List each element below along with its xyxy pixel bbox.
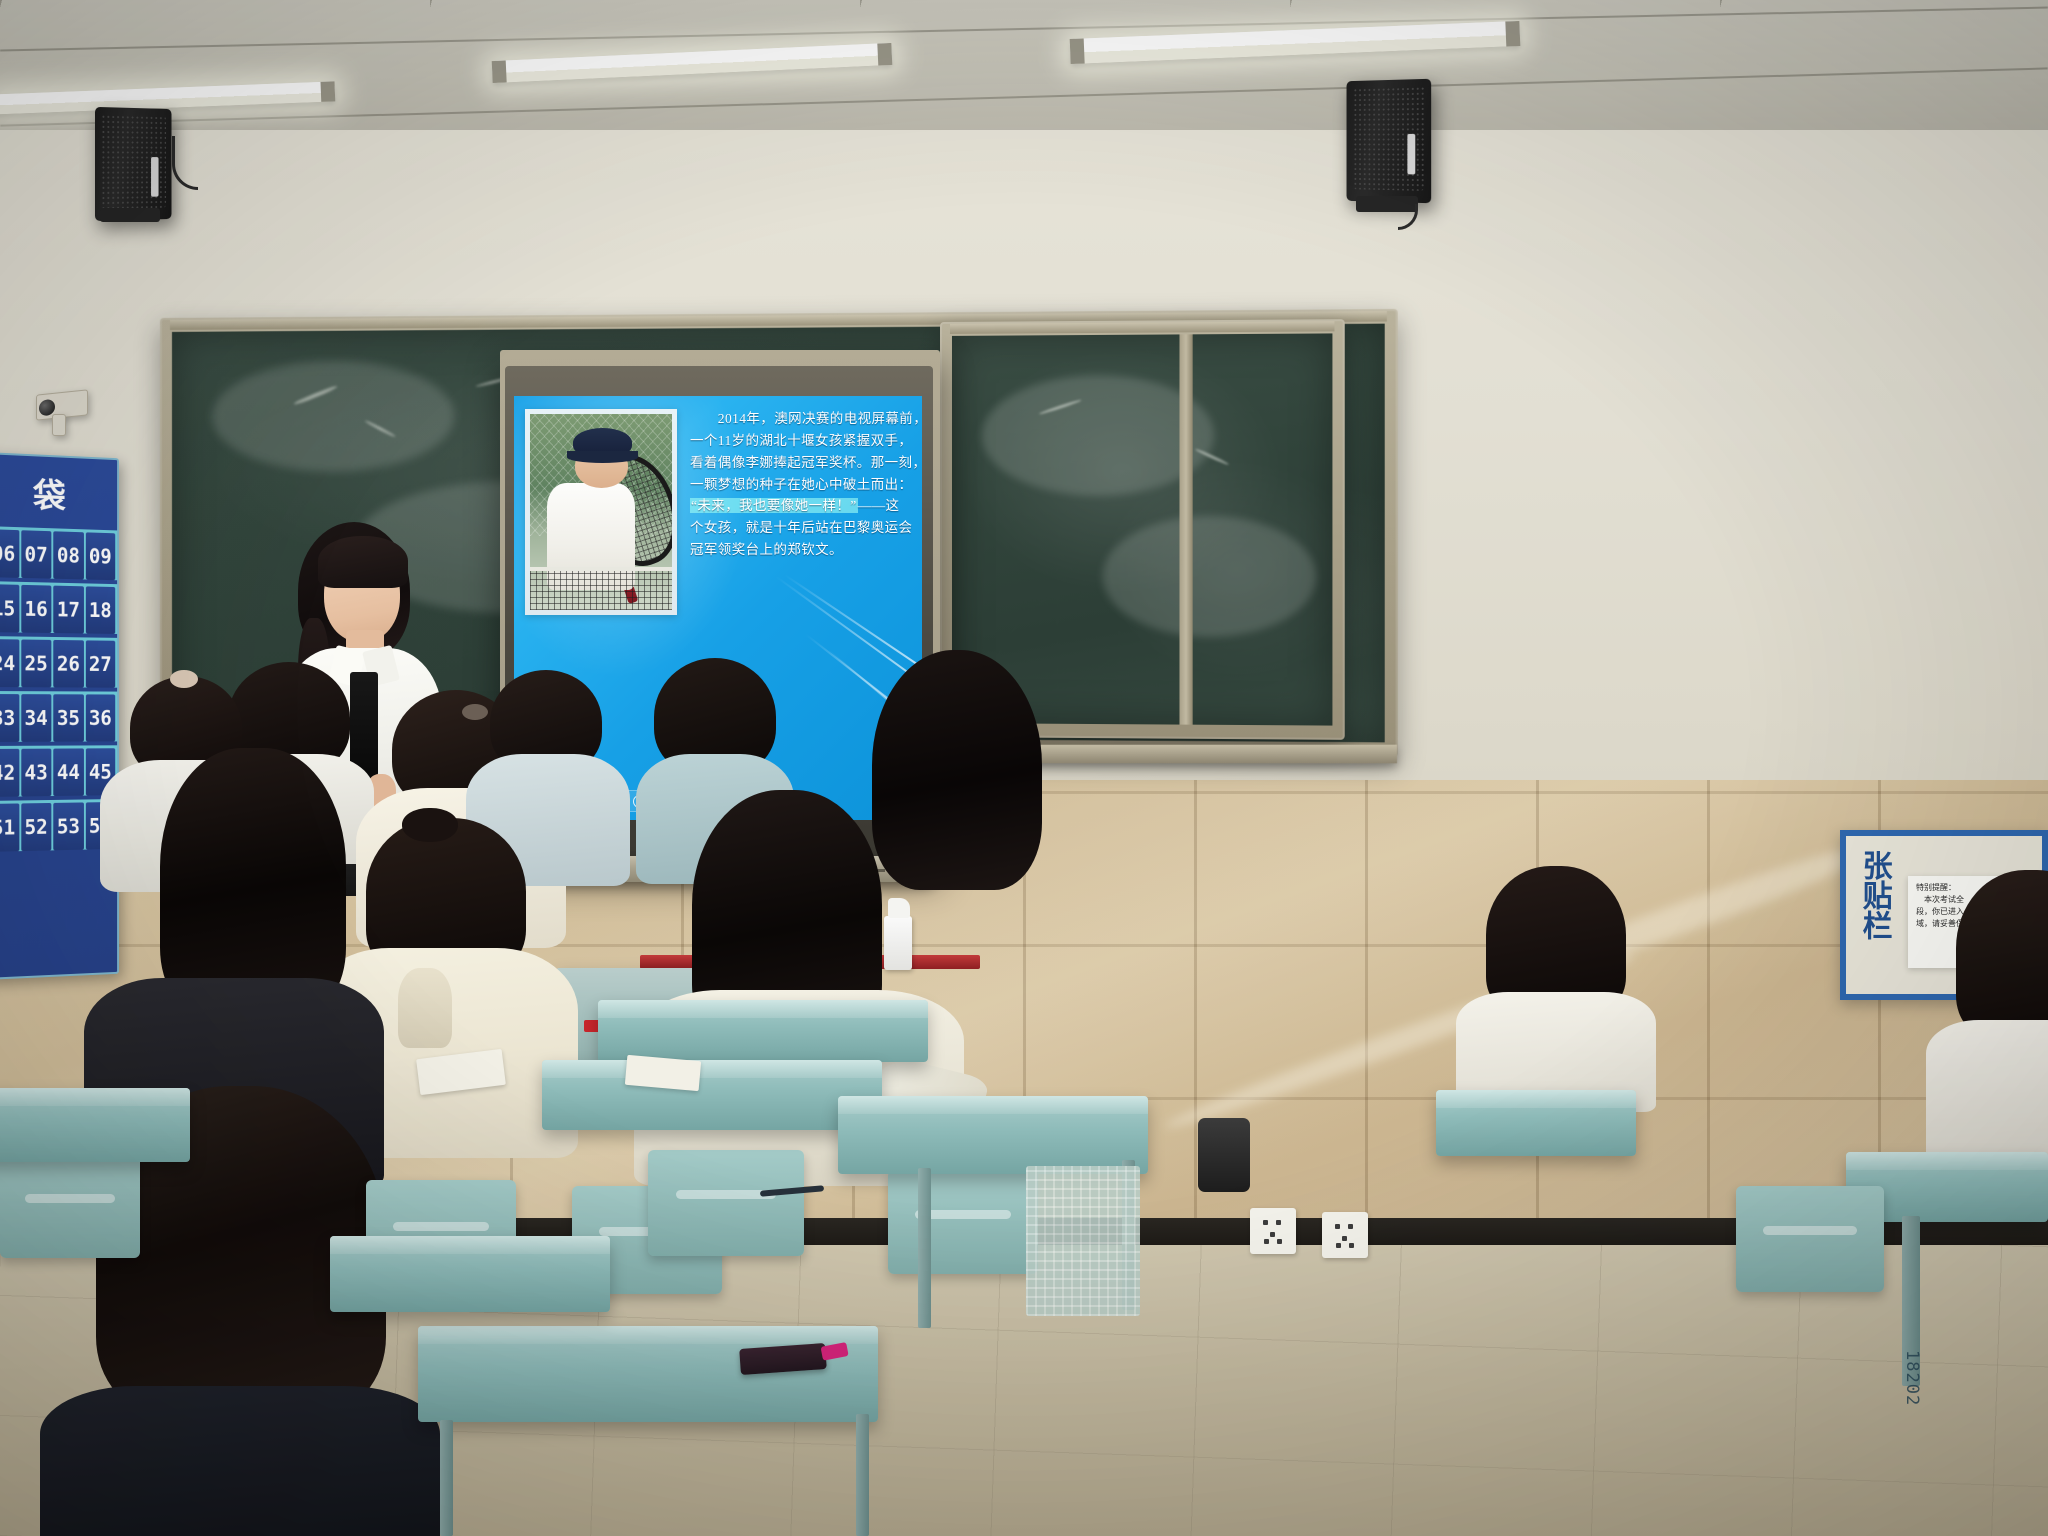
slide-line-highlight: “未来，我也要像她一样！”——这 bbox=[690, 495, 914, 517]
chalk-smudge bbox=[1103, 516, 1316, 638]
pocket-cell[interactable]: 24 bbox=[0, 639, 19, 687]
desk-surface bbox=[1846, 1152, 2048, 1170]
chair-handle-slot bbox=[393, 1222, 489, 1231]
pocket-row: 24 25 26 27 bbox=[0, 636, 117, 688]
wall-speaker-left bbox=[95, 107, 172, 221]
desk-leg bbox=[856, 1414, 869, 1536]
student-top bbox=[1926, 1020, 2048, 1160]
wall-speaker-right bbox=[1347, 79, 1432, 204]
chair-back bbox=[888, 1170, 1038, 1274]
student-desk bbox=[838, 1096, 1148, 1174]
pocket-row: 06 07 08 09 bbox=[0, 526, 117, 580]
speaker-bracket-left bbox=[100, 208, 160, 222]
water-bottle[interactable] bbox=[1198, 1118, 1250, 1192]
tube-end-cap bbox=[1505, 21, 1520, 47]
pocket-cell[interactable]: 42 bbox=[0, 749, 19, 797]
desk-surface bbox=[1436, 1090, 1636, 1108]
desk-surface bbox=[0, 1088, 190, 1106]
pocket-chart-header: 袋 bbox=[0, 454, 117, 530]
slide-line-3: 看着偶像李娜捧起冠军奖杯。那一刻， bbox=[690, 452, 914, 474]
ceiling bbox=[0, 0, 2048, 150]
student-desk bbox=[598, 1000, 928, 1062]
pocket-cell[interactable]: 35 bbox=[53, 694, 83, 741]
desk-surface bbox=[598, 1000, 928, 1018]
pocket-cell[interactable]: 44 bbox=[53, 748, 83, 796]
slide-line-2: 一个11岁的湖北十堰女孩紧握双手， bbox=[690, 430, 914, 452]
pocket-cell[interactable]: 17 bbox=[53, 586, 83, 634]
tube-end-cap bbox=[877, 43, 892, 66]
slide-line-1: 2014年，澳网决赛的电视屏幕前， bbox=[690, 408, 914, 430]
tube-end-cap bbox=[320, 81, 335, 102]
desk-surface bbox=[542, 1060, 882, 1078]
paper-sheet[interactable] bbox=[625, 1055, 701, 1091]
slide-line-6: 个女孩，就是十年后站在巴黎奥运会 bbox=[690, 517, 914, 539]
pocket-cell[interactable]: 15 bbox=[0, 584, 19, 632]
desk-surface bbox=[838, 1096, 1148, 1114]
pocket-cell[interactable]: 25 bbox=[21, 639, 52, 687]
pocket-cell[interactable]: 51 bbox=[0, 803, 19, 851]
pocket-cell[interactable]: 36 bbox=[85, 694, 115, 741]
desk-id-number: 18202 bbox=[1900, 1350, 1922, 1406]
desk-leg bbox=[918, 1168, 931, 1328]
slide-photo bbox=[525, 409, 677, 615]
pocket-cell[interactable]: 07 bbox=[21, 530, 52, 578]
front-student-desk bbox=[418, 1326, 878, 1422]
phone-pocket-chart: 袋 06 07 08 09 15 16 17 18 24 25 26 27 33… bbox=[0, 452, 119, 980]
pocket-cell[interactable]: 08 bbox=[53, 531, 83, 579]
desk-surface bbox=[330, 1236, 610, 1254]
classroom-scene: 2014年，澳网决赛的电视屏幕前， 一个11岁的湖北十堰女孩紧握双手， 看着偶像… bbox=[0, 0, 2048, 1536]
pocket-cell[interactable]: 16 bbox=[21, 585, 52, 633]
student-hair bbox=[1956, 870, 2048, 1040]
pocket-cell[interactable]: 06 bbox=[0, 529, 19, 578]
chair-back bbox=[648, 1150, 804, 1256]
tube-end-cap bbox=[492, 60, 507, 83]
slide-line-7: 冠军领奖台上的郑钦文。 bbox=[690, 539, 914, 561]
slide-line-4: 一颗梦想的种子在她心中破土而出： bbox=[690, 474, 914, 496]
speaker-badge bbox=[1408, 134, 1416, 175]
hair-clip bbox=[170, 670, 198, 688]
teacher-hair-front bbox=[318, 536, 408, 588]
slide-highlight-tail: ——这 bbox=[858, 498, 900, 513]
slide-photo-image bbox=[530, 414, 672, 610]
student-desk bbox=[542, 1060, 882, 1130]
pocket-cell[interactable]: 18 bbox=[85, 586, 115, 634]
student-desk bbox=[330, 1236, 610, 1312]
notice-board-title: 张贴栏 bbox=[1858, 850, 1889, 940]
chair-handle-slot bbox=[1763, 1226, 1858, 1235]
camera-mount bbox=[52, 414, 66, 436]
student-desk bbox=[1436, 1090, 1636, 1156]
power-outlet[interactable] bbox=[1322, 1212, 1368, 1258]
slide-text-block: 2014年，澳网决赛的电视屏幕前， 一个11岁的湖北十堰女孩紧握双手， 看着偶像… bbox=[690, 408, 914, 561]
pocket-cell[interactable]: 27 bbox=[85, 640, 115, 687]
blouse-placket bbox=[398, 968, 452, 1048]
student-right bbox=[1466, 866, 1646, 1086]
pocket-cell[interactable]: 43 bbox=[21, 749, 52, 797]
tube-end-cap bbox=[1070, 38, 1085, 64]
pocket-cell[interactable]: 53 bbox=[53, 802, 83, 850]
chair-back bbox=[0, 1154, 140, 1258]
slide-highlight-quote: “未来，我也要像她一样！” bbox=[690, 498, 858, 513]
student bbox=[484, 670, 610, 840]
chair-handle-slot bbox=[25, 1194, 115, 1203]
player-cap-brim bbox=[567, 451, 638, 463]
desk-leg bbox=[440, 1420, 453, 1536]
pocket-cell[interactable]: 33 bbox=[0, 694, 19, 742]
chair-back bbox=[1736, 1186, 1884, 1292]
pocket-row: 15 16 17 18 bbox=[0, 581, 117, 634]
board-rail-top bbox=[950, 321, 1335, 334]
hair-bun bbox=[402, 808, 458, 842]
power-outlet[interactable] bbox=[1250, 1208, 1296, 1254]
chalk-smudge bbox=[212, 360, 454, 472]
speaker-badge bbox=[151, 157, 158, 197]
board-divider bbox=[1179, 334, 1192, 724]
desk-surface bbox=[418, 1326, 878, 1344]
pocket-cell[interactable]: 09 bbox=[85, 532, 115, 580]
pocket-cell[interactable]: 52 bbox=[21, 803, 52, 851]
desk-basket bbox=[1026, 1166, 1140, 1316]
tennis-net bbox=[530, 567, 672, 610]
student-right-edge bbox=[1956, 870, 2048, 1120]
pocket-cell[interactable]: 26 bbox=[53, 640, 83, 688]
pocket-row: 42 43 44 45 bbox=[0, 745, 117, 797]
pocket-row: 33 34 35 36 bbox=[0, 691, 117, 742]
student-top bbox=[40, 1386, 440, 1536]
student-desk bbox=[0, 1088, 190, 1162]
pocket-cell[interactable]: 34 bbox=[21, 694, 52, 742]
